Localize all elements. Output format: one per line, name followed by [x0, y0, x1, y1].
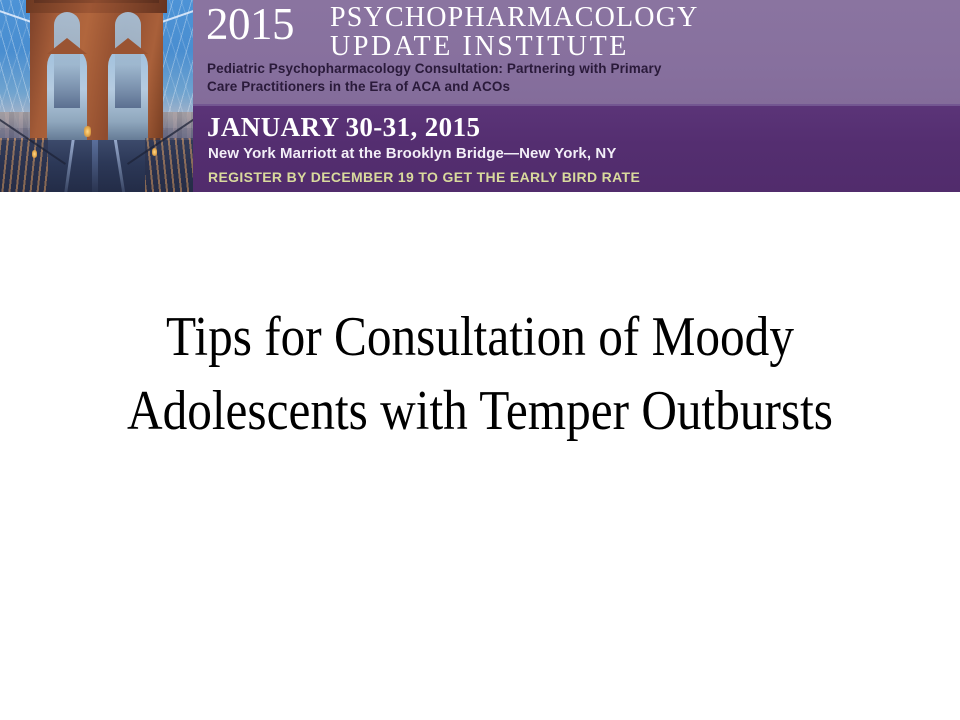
bridge-lamp-center-icon [84, 126, 91, 137]
brooklyn-bridge-photo [0, 0, 193, 192]
conference-subtitle: Pediatric Psychopharmacology Consultatio… [207, 60, 687, 96]
bridge-tower-cap-upper [34, 0, 159, 3]
conference-date: JANUARY 30-31, 2015 [207, 114, 480, 141]
bridge-arch-inner-right [115, 12, 141, 108]
conference-name-line1: PSYCHOPHARMACOLOGY [330, 4, 750, 33]
bridge-lamp-left-icon [32, 150, 37, 158]
bridge-lamp-right-icon [152, 148, 157, 156]
slide-title: Tips for Consultation of Moody Adolescen… [93, 300, 867, 448]
conference-banner: 2015 PSYCHOPHARMACOLOGY UPDATE INSTITUTE… [0, 0, 960, 192]
bridge-arch-point-right [108, 38, 148, 54]
walkway-center-divider [92, 140, 98, 192]
conference-venue: New York Marriott at the Brooklyn Bridge… [208, 146, 616, 161]
conference-name: PSYCHOPHARMACOLOGY UPDATE INSTITUTE [330, 4, 750, 61]
registration-deadline-notice: REGISTER BY DECEMBER 19 TO GET THE EARLY… [208, 170, 640, 184]
conference-name-line2: UPDATE INSTITUTE [330, 33, 750, 62]
bridge-arch-inner-left [54, 12, 80, 108]
conference-year: 2015 [206, 2, 294, 47]
presentation-slide: 2015 PSYCHOPHARMACOLOGY UPDATE INSTITUTE… [0, 0, 960, 720]
bridge-arch-point-left [47, 38, 87, 54]
